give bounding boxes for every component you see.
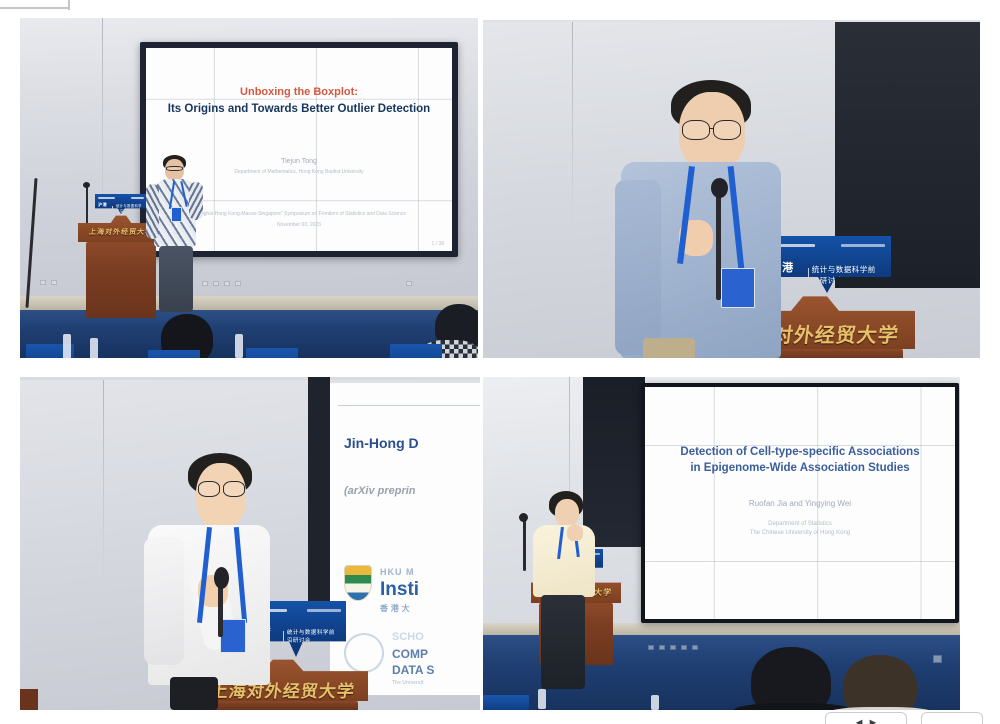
cds-logo-line3: DATA S [392, 663, 434, 677]
glasses-bridge-icon [710, 128, 714, 129]
cds-logo-sub: The Universit [392, 680, 424, 686]
foreground-edge [20, 689, 38, 710]
photo-top-right[interactable]: 沪港澳新 统计与数据科学前沿研讨会 上海对外经贸大学 [483, 20, 980, 358]
slide-affiliation: Department of Mathematics, Hong Kong Bap… [146, 169, 452, 175]
mic-stand [218, 585, 223, 637]
podium-body [208, 701, 358, 710]
hku-logo-line1: HKU M [380, 567, 415, 577]
page-root: Unboxing the Boxplot: Its Origins and To… [0, 0, 1000, 724]
banner-logo-row [98, 197, 145, 199]
desk-nameplate-2 [148, 350, 200, 358]
wall-trim [20, 377, 480, 380]
hku-logo-line2: Insti [380, 579, 419, 601]
slide-title-line2: in Epigenome-Wide Association Studies [645, 461, 955, 475]
water-bottle-1 [538, 689, 546, 709]
legs [541, 595, 585, 689]
wall-trim [483, 20, 980, 22]
next-page-button[interactable] [921, 712, 983, 724]
projection-screen: Detection of Cell-type-specific Associat… [641, 383, 959, 623]
arm-left [144, 537, 184, 665]
photo-bottom-right[interactable]: Detection of Cell-type-specific Associat… [483, 377, 960, 710]
glasses-left-lens-icon [198, 481, 220, 497]
water-bottle-1 [63, 334, 71, 358]
mic-head-icon [711, 178, 728, 198]
photo-top-left[interactable]: Unboxing the Boxplot: Its Origins and To… [20, 18, 478, 358]
wall-outlets-right [406, 281, 412, 286]
slide-title-line2: Its Origins and Towards Better Outlier D… [146, 102, 452, 116]
mic-head-icon [519, 513, 528, 522]
slide-rule [338, 405, 480, 406]
mic-stand [86, 186, 88, 226]
arm-left [615, 180, 661, 355]
head [555, 499, 579, 527]
slide-title-line1: Unboxing the Boxplot: [146, 86, 452, 100]
water-bottle-3 [235, 334, 243, 358]
mic-stand [523, 519, 526, 571]
young-speaker-scene: Jin-Hong D (arXiv preprin HKU M Insti 香 … [20, 377, 480, 710]
photo-bottom-left[interactable]: Jin-Hong D (arXiv preprin HKU M Insti 香 … [20, 377, 480, 710]
bottom-control-strip: ◄ ► [0, 712, 1000, 724]
slide-page-number: 1 / 38 [431, 241, 444, 247]
desk-nameplate-3 [246, 348, 298, 358]
screen-bezel [308, 377, 330, 622]
slide-affiliation-line1: Department of Statistics [645, 521, 955, 529]
cds-ring-icon [338, 627, 389, 678]
legs [643, 338, 695, 358]
slide-author-line: Jin-Hong D [344, 435, 419, 451]
glasses-right-lens-icon [713, 120, 741, 140]
page-edge-rule [0, 7, 70, 9]
prev-page-button[interactable]: ◄ ► [825, 712, 907, 724]
hku-crest-icon [344, 565, 372, 601]
water-bottle-2 [90, 338, 98, 358]
badge [721, 268, 755, 308]
cds-logo-line2: COMP [392, 647, 428, 661]
badge [220, 619, 246, 653]
slide-affiliation-line2: The Chinese University of Hong Kong [645, 530, 955, 538]
arm-left [146, 184, 159, 239]
banner-logo-row [769, 244, 884, 247]
wall-outlets-center [202, 281, 241, 286]
glasses-right-lens-icon [223, 481, 245, 497]
slide-author: Tiejun Tong [146, 158, 452, 167]
desk-nameplate-4 [390, 344, 442, 358]
podium-body [86, 242, 156, 318]
audience-head-1 [751, 647, 831, 710]
wall-outlets [648, 645, 698, 650]
speaker-closeup-scene: 沪港澳新 统计与数据科学前沿研讨会 上海对外经贸大学 [483, 20, 980, 358]
water-bottle-2 [651, 695, 659, 710]
glasses-left-lens-icon [682, 120, 710, 140]
slide-authors: Ruofan Jia and Yingying Wei [645, 499, 955, 509]
mic-head-icon [214, 567, 229, 589]
slide-surface: Detection of Cell-type-specific Associat… [645, 387, 955, 619]
glasses-icon [166, 166, 183, 171]
slide-surface: Jin-Hong D (arXiv preprin HKU M Insti 香 … [330, 383, 480, 695]
hku-logo-sub: 香 港 大 [380, 603, 410, 614]
legs [159, 246, 193, 312]
screen-bezel-left [583, 377, 645, 547]
torso [533, 525, 595, 597]
wall-outlet-right [933, 655, 942, 663]
slide-note-line: (arXiv preprin [344, 485, 416, 497]
cds-logo-line1: SCHO [392, 631, 424, 643]
legs [170, 677, 218, 710]
audience-head-2 [843, 655, 917, 710]
mic-stand [716, 190, 721, 300]
wide-hall-scene: Detection of Cell-type-specific Associat… [483, 377, 960, 710]
arm-right [189, 182, 203, 220]
slide-title-line1: Detection of Cell-type-specific Associat… [645, 445, 955, 459]
mic-head-icon [83, 182, 90, 188]
page-edge-tick [68, 0, 70, 10]
wall-outlets-left [40, 280, 57, 285]
desk-nameplate-1 [483, 695, 529, 710]
badge [171, 207, 182, 222]
hand [567, 525, 583, 541]
lecture-hall-scene: Unboxing the Boxplot: Its Origins and To… [20, 18, 478, 358]
